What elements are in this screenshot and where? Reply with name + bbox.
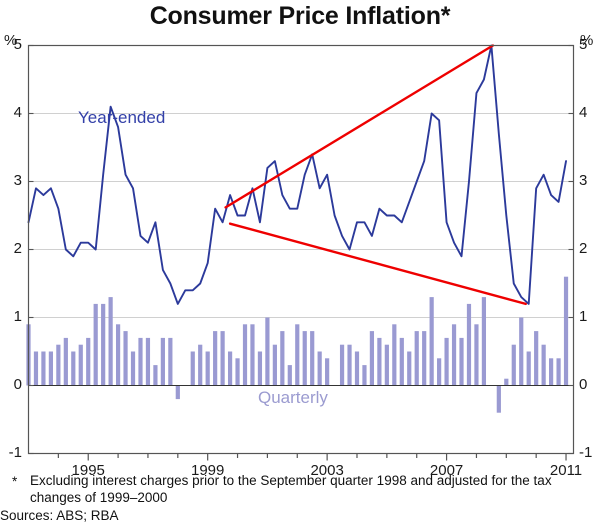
y-tick-label-right: 0 <box>579 376 600 393</box>
bar <box>303 331 307 385</box>
y-tick-label-left: 3 <box>0 172 22 189</box>
bar <box>41 352 45 386</box>
sources-line: Sources: ABS; RBA <box>0 507 600 524</box>
bar <box>452 324 456 385</box>
bar <box>168 338 172 386</box>
footnote-text: Excluding interest charges prior to the … <box>30 473 552 505</box>
bar <box>295 324 299 385</box>
bar <box>362 365 366 385</box>
bar <box>109 297 113 385</box>
bar <box>474 324 478 385</box>
bar <box>86 338 90 386</box>
upper-trendline <box>226 46 493 208</box>
bar <box>71 352 75 386</box>
bar <box>123 331 127 385</box>
bar <box>258 352 262 386</box>
bar <box>79 345 83 386</box>
y-tick-label-left: 0 <box>0 376 22 393</box>
y-tick-label-left: 4 <box>0 104 22 121</box>
bar <box>534 331 538 385</box>
bar <box>206 352 210 386</box>
bar <box>556 358 560 385</box>
bar <box>370 331 374 385</box>
bar <box>153 365 157 385</box>
bar <box>235 358 239 385</box>
bar <box>459 338 463 386</box>
bar <box>347 345 351 386</box>
bar <box>273 345 277 386</box>
chart-figure: Consumer Price Inflation* % % -1012345 -… <box>0 0 600 528</box>
bar <box>542 345 546 386</box>
bar <box>392 324 396 385</box>
bar <box>243 324 247 385</box>
bar <box>310 331 314 385</box>
bar <box>198 345 202 386</box>
bar <box>527 352 531 386</box>
bar <box>101 304 105 386</box>
bar <box>250 324 254 385</box>
bar <box>131 352 135 386</box>
y-tick-label-right: 2 <box>579 240 600 257</box>
plot-area <box>0 0 600 528</box>
y-tick-label-right: 1 <box>579 308 600 325</box>
bar <box>138 338 142 386</box>
bar <box>340 345 344 386</box>
bar <box>415 331 419 385</box>
series-label-quarterly: Quarterly <box>258 388 328 408</box>
y-tick-label-right: 3 <box>579 172 600 189</box>
bar <box>176 386 180 400</box>
y-tick-label-left: 5 <box>0 36 22 53</box>
bar <box>318 352 322 386</box>
bar <box>497 386 501 413</box>
y-tick-label-left: -1 <box>0 444 22 461</box>
year-ended-line <box>29 46 567 304</box>
bar <box>146 338 150 386</box>
y-tick-label-right: 5 <box>579 36 600 53</box>
bar <box>56 345 60 386</box>
y-tick-label-right: 4 <box>579 104 600 121</box>
footnotes: * Excluding interest charges prior to th… <box>0 472 600 524</box>
bar <box>64 338 68 386</box>
bar <box>407 352 411 386</box>
bar <box>116 324 120 385</box>
bar <box>221 331 225 385</box>
bar <box>549 358 553 385</box>
bar <box>444 338 448 386</box>
bar <box>385 345 389 386</box>
bar <box>422 331 426 385</box>
lower-trendline <box>230 224 526 304</box>
series-label-year-ended: Year-ended <box>78 108 165 128</box>
footnote-marker: * <box>12 473 17 490</box>
bar <box>400 338 404 386</box>
bar <box>228 352 232 386</box>
bar <box>519 318 523 386</box>
bar <box>504 379 508 386</box>
bar <box>34 352 38 386</box>
footnote-row: * Excluding interest charges prior to th… <box>0 472 600 506</box>
year-ended-polyline <box>29 46 567 304</box>
bar <box>49 352 53 386</box>
bar <box>94 304 98 386</box>
bar <box>355 352 359 386</box>
bar <box>325 358 329 385</box>
bar <box>265 318 269 386</box>
bar <box>482 297 486 385</box>
bar <box>213 331 217 385</box>
bar <box>564 277 568 386</box>
bar <box>280 331 284 385</box>
bar <box>512 345 516 386</box>
y-tick-label-left: 2 <box>0 240 22 257</box>
bar <box>437 358 441 385</box>
y-tick-label-left: 1 <box>0 308 22 325</box>
bar <box>288 365 292 385</box>
y-tick-label-right: -1 <box>579 444 600 461</box>
bar <box>467 304 471 386</box>
bar <box>191 352 195 386</box>
bar <box>377 338 381 386</box>
bar <box>430 297 434 385</box>
bar <box>161 338 165 386</box>
